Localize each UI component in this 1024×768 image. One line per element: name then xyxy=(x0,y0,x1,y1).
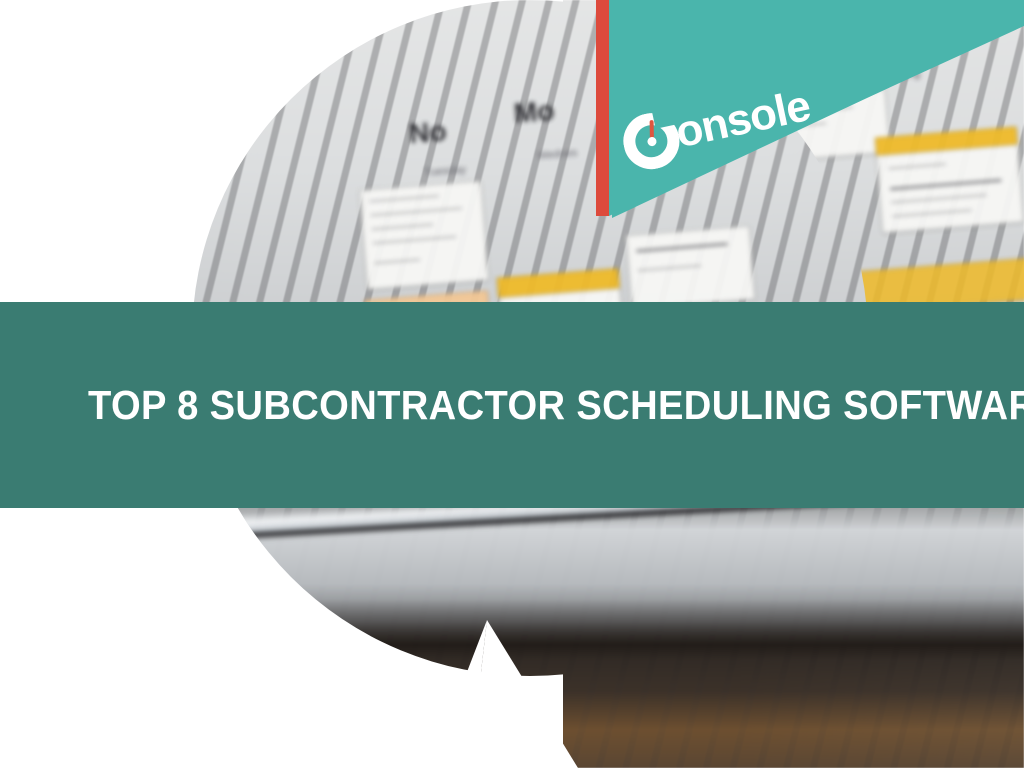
title-band: TOP 8 SUBCONTRACTOR SCHEDULING SOFTWARE xyxy=(0,302,1024,508)
clock-c-icon xyxy=(618,108,684,174)
logo-wordmark: onsole xyxy=(672,84,815,159)
page-title: TOP 8 SUBCONTRACTOR SCHEDULING SOFTWARE xyxy=(88,302,921,508)
banner-graphic: Wed Slum Went Aterla Planning Plaing xyxy=(0,0,1024,768)
